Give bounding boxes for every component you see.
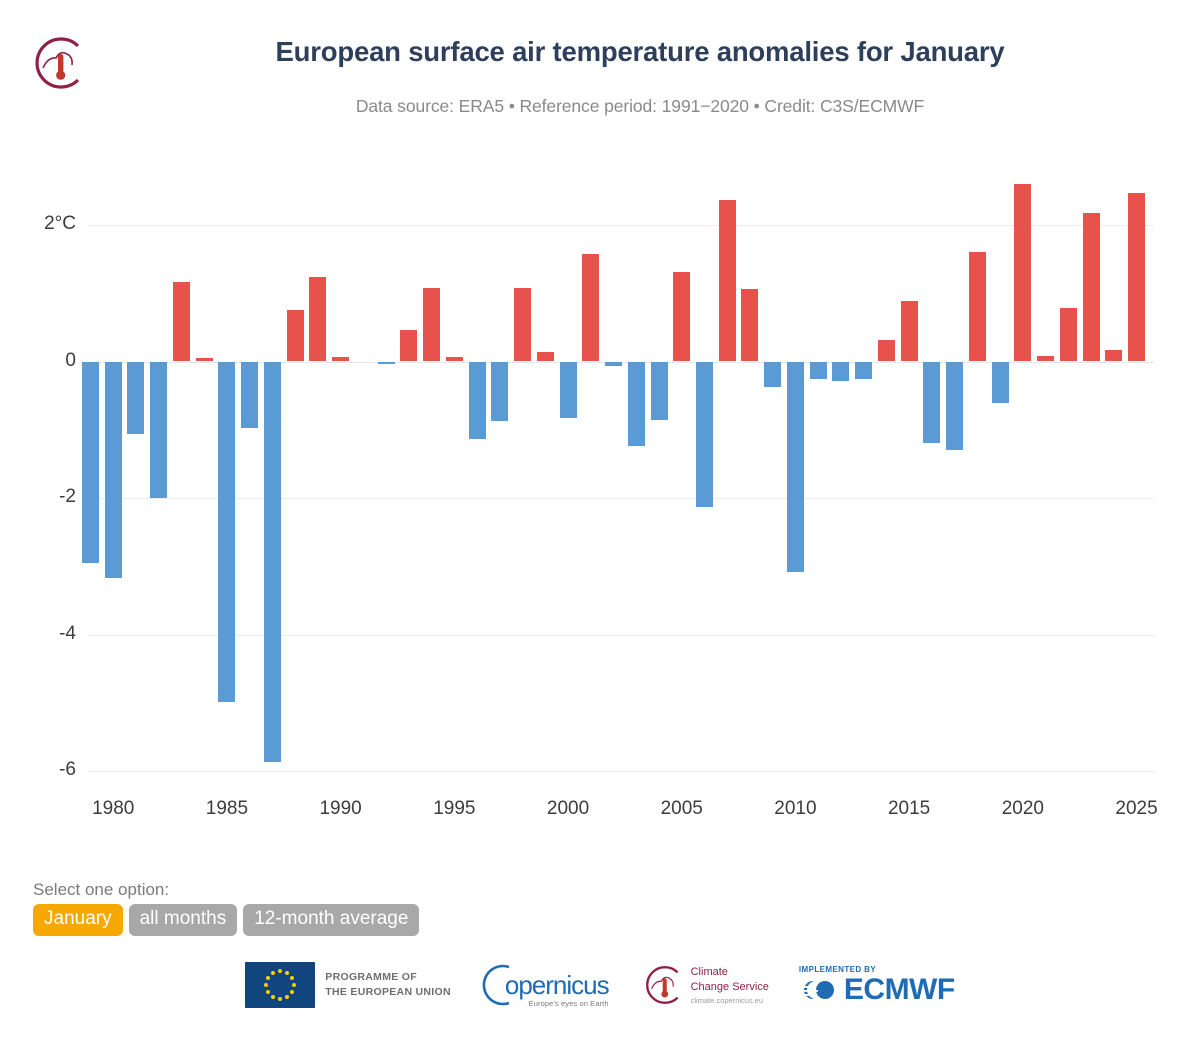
gridline	[88, 225, 1154, 226]
x-axis-tick-2015: 2015	[869, 798, 949, 820]
gridline	[88, 635, 1154, 636]
bar-1987[interactable]	[264, 362, 281, 763]
ecmwf-cloud-icon	[799, 975, 841, 1005]
eu-star-icon	[271, 971, 275, 975]
x-axis-tick-2025: 2025	[1097, 798, 1177, 820]
bar-2021[interactable]	[1037, 356, 1054, 361]
y-axis-tick-text: -4	[20, 623, 76, 645]
bar-1980[interactable]	[105, 362, 122, 579]
copernicus-wordmark: opernicus	[505, 973, 609, 998]
bar-2016[interactable]	[923, 362, 940, 444]
bar-2024[interactable]	[1105, 350, 1122, 362]
bar-2000[interactable]	[560, 362, 577, 418]
y-axis-tick-text: 0	[20, 350, 76, 372]
bar-1986[interactable]	[241, 362, 258, 428]
copernicus-tagline: Europe's eyes on Earth	[505, 999, 609, 1008]
bar-2019[interactable]	[992, 362, 1009, 404]
c3s-url: climate.copernicus.eu	[691, 996, 769, 1005]
bar-2018[interactable]	[969, 252, 986, 361]
x-axis-tick-1980: 1980	[73, 798, 153, 820]
x-axis-tick-2000: 2000	[528, 798, 608, 820]
bar-1996[interactable]	[469, 362, 486, 439]
bar-2003[interactable]	[628, 362, 645, 446]
bar-1997[interactable]	[491, 362, 508, 421]
bar-2001[interactable]	[582, 254, 599, 362]
eu-star-icon	[278, 997, 282, 1001]
eu-star-icon	[285, 995, 289, 999]
y-axis-tick-text: -2	[20, 486, 76, 508]
bar-1992[interactable]	[378, 362, 395, 365]
x-axis-tick-2010: 2010	[755, 798, 835, 820]
bar-2010[interactable]	[787, 362, 804, 572]
bar-1983[interactable]	[173, 282, 190, 361]
eu-star-icon	[285, 971, 289, 975]
x-axis-tick-1985: 1985	[187, 798, 267, 820]
chart-page: European surface air temperature anomali…	[0, 0, 1200, 1063]
bar-chart-plot: 2°C0-2-4-6198019851990199520002005201020…	[0, 0, 1200, 860]
chart-controls: Select one option: Januaryall months12-m…	[33, 880, 419, 936]
bar-2022[interactable]	[1060, 308, 1077, 361]
bar-2002[interactable]	[605, 362, 622, 366]
eu-star-icon	[290, 976, 294, 980]
bar-1990[interactable]	[332, 357, 349, 361]
bar-1984[interactable]	[196, 358, 213, 361]
bar-2020[interactable]	[1014, 184, 1031, 362]
eu-star-icon	[271, 995, 275, 999]
y-axis-tick-text: -6	[20, 759, 76, 781]
x-axis-tick-2020: 2020	[983, 798, 1063, 820]
c3s-line-2: Change Service	[691, 980, 769, 995]
footer-logos: PROGRAMME OF THE EUROPEAN UNION opernicu…	[0, 950, 1200, 1030]
bar-2017[interactable]	[946, 362, 963, 451]
bar-1979[interactable]	[82, 362, 99, 563]
bar-2023[interactable]	[1083, 213, 1100, 361]
eu-star-icon	[264, 983, 268, 987]
gridline	[88, 498, 1154, 499]
bar-2004[interactable]	[651, 362, 668, 420]
bar-1981[interactable]	[127, 362, 144, 434]
ecmwf-logo: IMPLEMENTED BY ECMWF	[799, 965, 955, 1005]
option-button-all-months[interactable]: all months	[129, 904, 238, 936]
bar-2015[interactable]	[901, 301, 918, 361]
eu-star-icon	[266, 990, 270, 994]
bar-1993[interactable]	[400, 330, 417, 361]
c3s-footer-logo: Climate Change Service climate.copernicu…	[639, 962, 769, 1008]
bar-2025[interactable]	[1128, 193, 1145, 361]
y-axis-tick-text: 2°C	[20, 213, 76, 235]
eu-programme-logo: PROGRAMME OF THE EUROPEAN UNION	[245, 962, 451, 1008]
copernicus-logo: opernicus Europe's eyes on Earth	[481, 962, 609, 1008]
bar-2012[interactable]	[832, 362, 849, 381]
bar-1999[interactable]	[537, 352, 554, 362]
bar-2005[interactable]	[673, 272, 690, 361]
bar-1988[interactable]	[287, 310, 304, 361]
eu-line-2: THE EUROPEAN UNION	[325, 985, 451, 1000]
bar-2011[interactable]	[810, 362, 827, 380]
x-axis-tick-1995: 1995	[414, 798, 494, 820]
gridline	[88, 771, 1154, 772]
eu-programme-text: PROGRAMME OF THE EUROPEAN UNION	[325, 970, 451, 1000]
option-button-12-month-average[interactable]: 12-month average	[243, 904, 419, 936]
bar-1989[interactable]	[309, 277, 326, 362]
bar-1985[interactable]	[218, 362, 235, 702]
option-button-group: Januaryall months12-month average	[33, 904, 419, 936]
bar-2007[interactable]	[719, 200, 736, 361]
eu-star-icon	[290, 990, 294, 994]
x-axis-tick-1990: 1990	[301, 798, 381, 820]
option-button-january[interactable]: January	[33, 904, 123, 936]
bar-1994[interactable]	[423, 288, 440, 362]
c3s-line-1: Climate	[691, 965, 769, 980]
x-axis-tick-2005: 2005	[642, 798, 722, 820]
bar-1982[interactable]	[150, 362, 167, 499]
bar-2014[interactable]	[878, 340, 895, 361]
ecmwf-wordmark: ECMWF	[844, 975, 955, 1005]
bar-2013[interactable]	[855, 362, 872, 379]
eu-star-icon	[266, 976, 270, 980]
eu-flag-icon	[245, 962, 315, 1008]
eu-star-icon	[278, 969, 282, 973]
bar-2008[interactable]	[741, 289, 758, 361]
controls-label: Select one option:	[33, 880, 419, 900]
bar-2006[interactable]	[696, 362, 713, 507]
eu-line-1: PROGRAMME OF	[325, 970, 451, 985]
eu-star-icon	[292, 983, 296, 987]
c3s-thermometer-icon	[639, 962, 685, 1008]
bar-1998[interactable]	[514, 288, 531, 361]
bar-1995[interactable]	[446, 357, 463, 362]
bar-2009[interactable]	[764, 362, 781, 387]
